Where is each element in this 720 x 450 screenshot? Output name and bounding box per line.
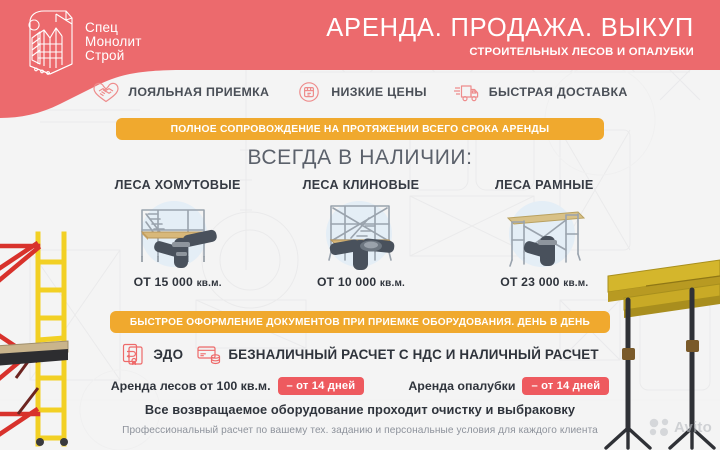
payment-cashless-label: БЕЗНАЛИЧНЫЙ РАСЧЕТ С НДС И НАЛИЧНЫЙ РАСЧ… [228, 347, 598, 362]
feature-loyal-acceptance: ЛОЯЛЬНАЯ ПРИЕМКА [92, 80, 269, 104]
delivery-truck-icon [453, 80, 481, 104]
support-banner-text: ПОЛНОЕ СОПРОВОЖДЕНИЕ НА ПРОТЯЖЕНИИ ВСЕГО… [171, 124, 550, 135]
product-card-frame[interactable]: ЛЕСА РАМНЫЕ [453, 178, 636, 304]
reclaim-note: Все возвращаемое оборудование проходит о… [0, 402, 720, 417]
term-label: Аренда лесов от 100 кв.м. [111, 379, 271, 393]
logo-name-line-2: Монолит [85, 35, 142, 49]
feature-label: БЫСТРАЯ ДОСТАВКА [489, 85, 628, 99]
building-crane-logo-icon [22, 8, 78, 76]
advertisement-banner: Спец Монолит Строй АРЕНДА. ПРОДАЖА. ВЫКУ… [0, 0, 720, 450]
payment-cashless: БЕЗНАЛИЧНЫЙ РАСЧЕТ С НДС И НАЛИЧНЫЙ РАСЧ… [196, 342, 598, 366]
clamp-scaffolding-photo [86, 196, 269, 274]
fineprint-note: Профессиональный расчет по вашему тех. з… [0, 425, 720, 436]
wedge-scaffolding-photo [269, 196, 452, 274]
product-price-unit: кв.м. [380, 278, 405, 289]
support-banner: ПОЛНОЕ СОПРОВОЖДЕНИЕ НА ПРОТЯЖЕНИИ ВСЕГО… [116, 118, 604, 140]
feature-fast-delivery: БЫСТРАЯ ДОСТАВКА [453, 80, 628, 104]
logo-name-line-1: Спец [85, 21, 142, 35]
product-name: ЛЕСА КЛИНОВЫЕ [269, 178, 452, 192]
handshake-heart-icon [92, 80, 120, 104]
product-price-unit: кв.м. [563, 278, 588, 289]
documents-banner-text: БЫСТРОЕ ОФОРМЛЕНИЕ ДОКУМЕНТОВ ПРИ ПРИЕМК… [130, 317, 590, 328]
product-name: ЛЕСА ХОМУТОВЫЕ [86, 178, 269, 192]
price-tag-circle-icon [295, 80, 323, 104]
product-price: ОТ 10 000 кв.м. [269, 275, 452, 289]
feature-list: ЛОЯЛЬНАЯ ПРИЕМКА НИЗКИЕ ЦЕНЫ [0, 76, 720, 108]
logo-name-line-3: Строй [85, 49, 142, 63]
product-name: ЛЕСА РАМНЫЕ [453, 178, 636, 192]
product-price: ОТ 15 000 кв.м. [86, 275, 269, 289]
payment-edo: ЭДО [121, 342, 183, 366]
payment-edo-label: ЭДО [153, 347, 183, 362]
avito-dots-icon [649, 418, 671, 436]
product-price-unit: кв.м. [197, 278, 222, 289]
feature-label: ЛОЯЛЬНАЯ ПРИЕМКА [128, 85, 269, 99]
brand-logo[interactable]: Спец Монолит Строй [22, 8, 142, 76]
product-price: ОТ 23 000 кв.м. [453, 275, 636, 289]
term-badge: – от 14 дней [522, 377, 609, 395]
product-card-clamp[interactable]: ЛЕСА ХОМУТОВЫЕ [86, 178, 269, 304]
payment-methods-row: ЭДО БЕЗНАЛИЧНЫЙ РАСЧЕТ С НДС И НАЛИЧНЫЙ … [0, 340, 720, 368]
documents-banner: БЫСТРОЕ ОФОРМЛЕНИЕ ДОКУМЕНТОВ ПРИ ПРИЕМК… [110, 311, 610, 333]
feature-label: НИЗКИЕ ЦЕНЫ [331, 85, 427, 99]
avito-watermark: Avito [649, 418, 712, 436]
header-title-block: АРЕНДА. ПРОДАЖА. ВЫКУП СТРОИТЕЛЬНЫХ ЛЕСО… [326, 14, 694, 58]
avito-watermark-text: Avito [674, 419, 712, 436]
term-formwork-rental: Аренда опалубки – от 14 дней [408, 377, 609, 395]
product-card-wedge[interactable]: ЛЕСА КЛИНОВЫЕ [269, 178, 452, 304]
term-label: Аренда опалубки [408, 379, 515, 393]
term-scaffolding-rental: Аренда лесов от 100 кв.м. – от 14 дней [111, 377, 365, 395]
page-subtitle: СТРОИТЕЛЬНЫХ ЛЕСОВ И ОПАЛУБКИ [326, 46, 694, 58]
page-title: АРЕНДА. ПРОДАЖА. ВЫКУП [326, 14, 694, 43]
feature-low-prices: НИЗКИЕ ЦЕНЫ [295, 80, 427, 104]
section-title: ВСЕГДА В НАЛИЧИИ: [0, 146, 720, 170]
rental-terms-row: Аренда лесов от 100 кв.м. – от 14 дней А… [0, 375, 720, 397]
card-coins-icon [196, 342, 222, 366]
frame-scaffolding-photo [453, 196, 636, 274]
term-badge: – от 14 дней [278, 377, 365, 395]
document-exchange-icon [121, 342, 147, 366]
product-list: ЛЕСА ХОМУТОВЫЕ [86, 178, 636, 304]
